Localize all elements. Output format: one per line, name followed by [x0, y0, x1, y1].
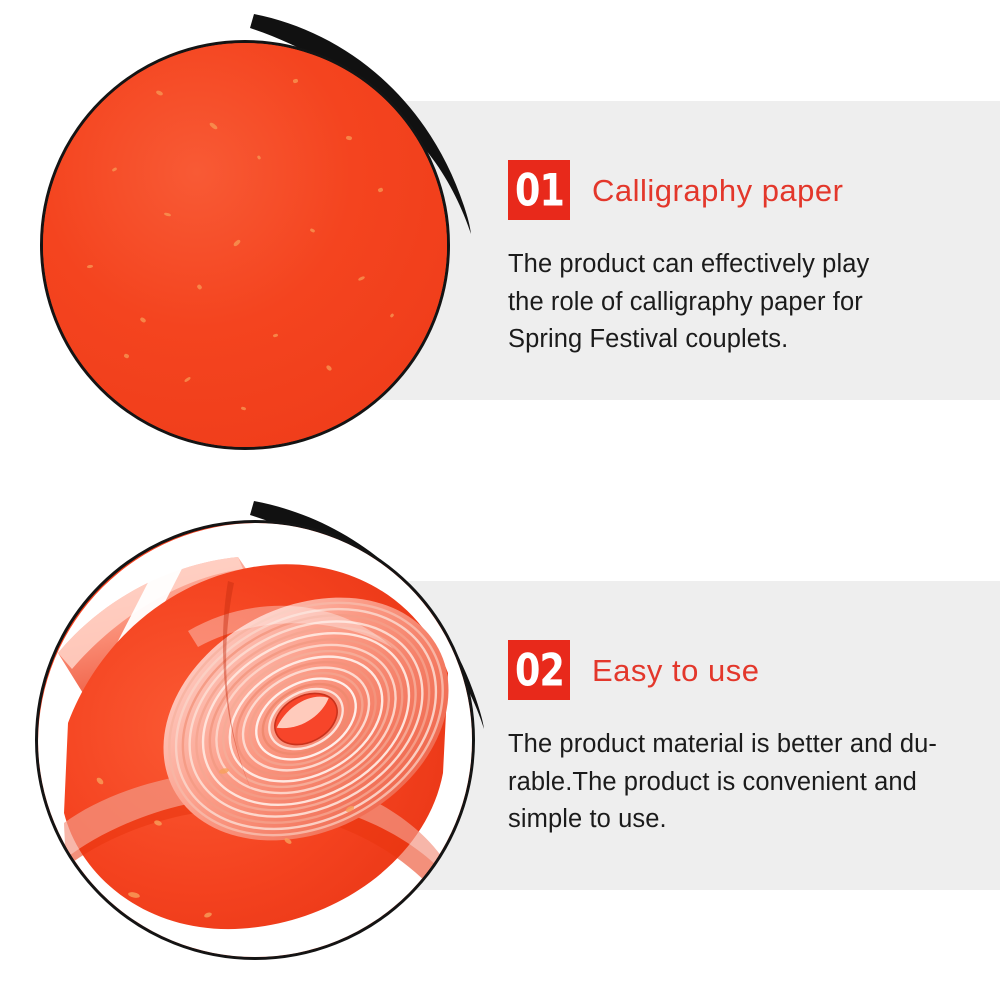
- feature-body-line: The product material is better and du-: [508, 726, 958, 764]
- feature-heading-row-2: 02 Easy to use: [508, 640, 958, 700]
- feature-number-badge-2: 02: [508, 640, 570, 700]
- feature-body-line: simple to use.: [508, 801, 958, 839]
- feature-text-1: 01 Calligraphy paper The product can eff…: [508, 160, 928, 359]
- feature-body-2: The product material is better and du- r…: [508, 726, 958, 839]
- feature-heading-row-1: 01 Calligraphy paper: [508, 160, 928, 220]
- feature-body-1: The product can effectively play the rol…: [508, 246, 928, 359]
- feature-title-1: Calligraphy paper: [592, 175, 843, 206]
- feature-body-line: Spring Festival couplets.: [508, 321, 928, 359]
- product-photo-calligraphy-paper: [40, 40, 450, 450]
- feature-body-line: rable.The product is convenient and: [508, 764, 958, 802]
- feature-text-2: 02 Easy to use The product material is b…: [508, 640, 958, 839]
- feature-title-2: Easy to use: [592, 655, 759, 686]
- feature-number-badge-1: 01: [508, 160, 570, 220]
- infographic-canvas: 01 Calligraphy paper The product can eff…: [0, 0, 1000, 1000]
- feature-number-1: 01: [515, 168, 564, 213]
- feature-number-2: 02: [515, 648, 564, 693]
- paper-roll-illustration: [38, 523, 475, 960]
- feature-body-line: the role of calligraphy paper for: [508, 284, 928, 322]
- product-photo-paper-roll: [35, 520, 475, 960]
- feature-body-line: The product can effectively play: [508, 246, 928, 284]
- paper-surface: [43, 43, 447, 447]
